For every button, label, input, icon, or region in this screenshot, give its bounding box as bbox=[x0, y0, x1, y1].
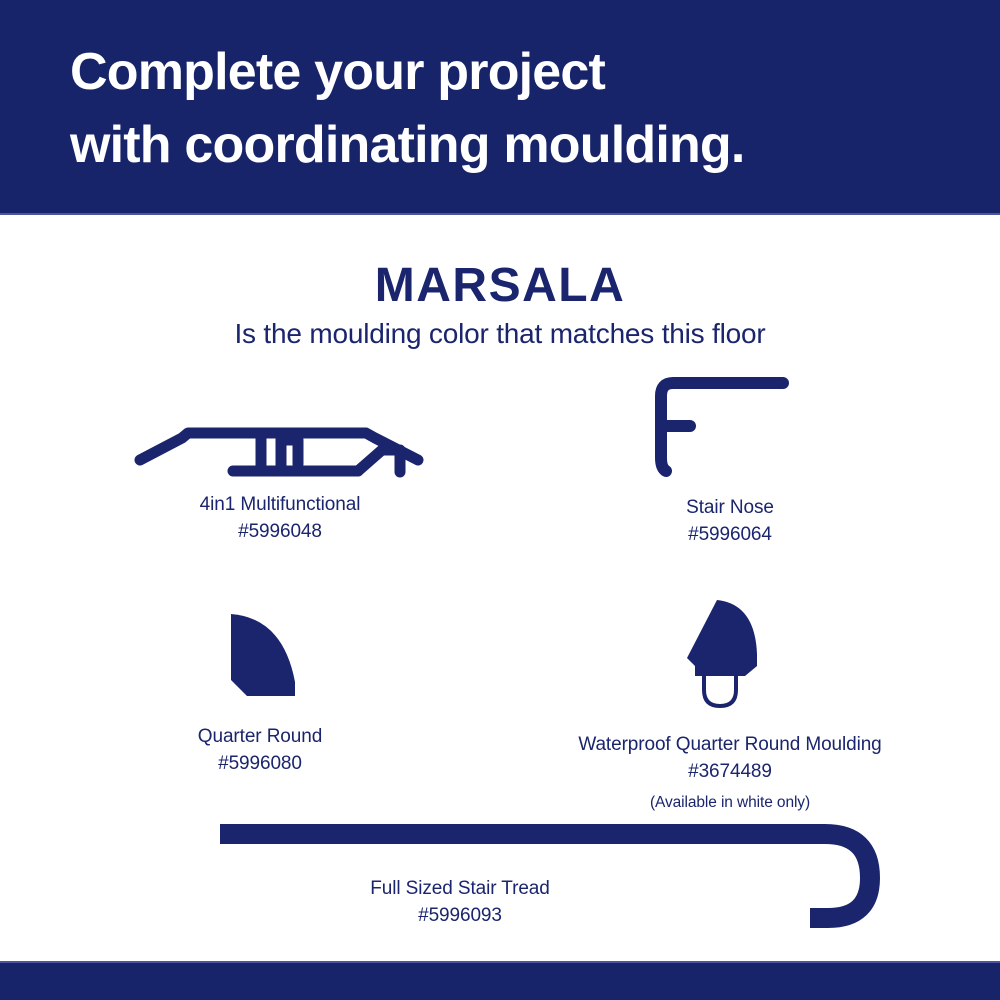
product-name-4in1: 4in1 Multifunctional bbox=[200, 494, 361, 515]
product-sku-stairnose: #5996064 bbox=[520, 522, 940, 549]
product-card-stairnose: Stair Nose #5996064 bbox=[520, 372, 940, 549]
waterproof-quarter-round-moulding-icon bbox=[665, 592, 795, 714]
product-caption-wpqround: Waterproof Quarter Round Moulding #36744… bbox=[500, 732, 960, 814]
product-caption-4in1: 4in1 Multifunctional #5996048 bbox=[60, 492, 500, 546]
product-caption-stairnose: Stair Nose #5996064 bbox=[520, 495, 940, 549]
product-caption-tread: Full Sized Stair Tread #5996093 bbox=[160, 876, 760, 930]
hero-headline: Complete your project with coordinating … bbox=[70, 36, 950, 182]
product-card-qround: Quarter Round #5996080 bbox=[60, 600, 460, 778]
quarter-round-moulding-icon bbox=[205, 600, 315, 700]
product-name-wpqround: Waterproof Quarter Round Moulding bbox=[578, 734, 881, 755]
product-sku-tread: #5996093 bbox=[160, 903, 760, 930]
stair-nose-moulding-icon bbox=[635, 372, 825, 477]
hero-banner: Complete your project with coordinating … bbox=[0, 0, 1000, 213]
moulding-promo-page: Complete your project with coordinating … bbox=[0, 0, 1000, 1000]
product-art-4in1 bbox=[60, 392, 500, 474]
hero-divider bbox=[0, 213, 1000, 215]
product-card-tread: Full Sized Stair Tread #5996093 bbox=[40, 818, 920, 928]
product-art-wpqround bbox=[500, 592, 960, 714]
product-sku-wpqround: #3674489 bbox=[500, 759, 960, 786]
product-name-tread: Full Sized Stair Tread bbox=[370, 878, 549, 899]
footer-bar bbox=[0, 963, 1000, 1000]
product-name-qround: Quarter Round bbox=[198, 726, 322, 747]
product-card-4in1: 4in1 Multifunctional #5996048 bbox=[60, 392, 500, 546]
product-art-stairnose bbox=[520, 372, 940, 477]
product-name-stairnose: Stair Nose bbox=[686, 497, 774, 518]
brand-name-heading: MARSALA bbox=[0, 258, 1000, 313]
product-sku-4in1: #5996048 bbox=[60, 519, 500, 546]
four-in-one-multifunctional-moulding-icon bbox=[130, 392, 430, 474]
product-caption-qround: Quarter Round #5996080 bbox=[60, 724, 460, 778]
product-note-wpqround: (Available in white only) bbox=[500, 792, 960, 814]
product-card-wpqround: Waterproof Quarter Round Moulding #36744… bbox=[500, 592, 960, 814]
product-sku-qround: #5996080 bbox=[60, 751, 460, 778]
brand-subtitle: Is the moulding color that matches this … bbox=[0, 318, 1000, 350]
product-art-qround bbox=[60, 600, 460, 700]
